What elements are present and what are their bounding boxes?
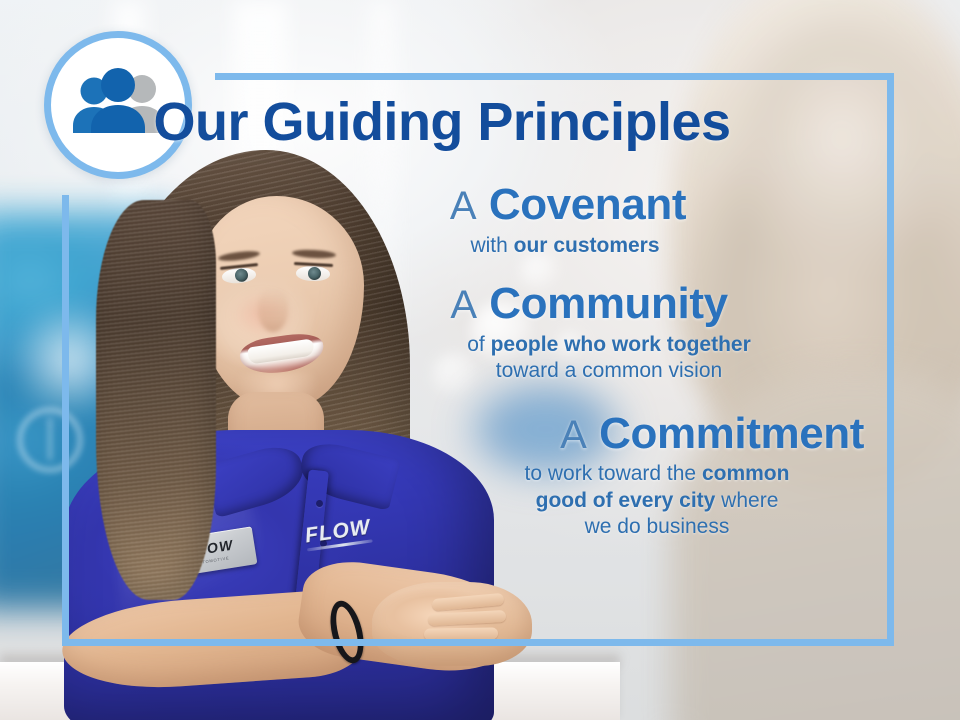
guiding-principles-graphic: FLOW AUTOMOTIVE FLOW <box>0 0 960 720</box>
principle-article: A <box>450 283 477 327</box>
principle-community: A Community of people who work togethert… <box>300 281 886 385</box>
principle-commitment: A Commitment to work toward the commongo… <box>300 411 886 541</box>
principle-description-line: good of every city where <box>450 488 864 514</box>
frame-top-border <box>215 73 894 80</box>
emphasis-text: our customers <box>514 234 660 257</box>
principle-keyword: Community <box>489 279 727 328</box>
principles-list: A Covenant with our customers A Communit… <box>300 182 886 551</box>
frame-bottom-border <box>62 639 894 646</box>
plain-text: with <box>470 234 513 257</box>
principle-keyword: Commitment <box>599 409 864 458</box>
principle-description: to work toward the commongood of every c… <box>300 461 864 540</box>
principle-description: with our customers <box>300 233 836 259</box>
principle-description-line: of people who work together <box>340 332 878 358</box>
plain-text: to work toward the <box>525 462 702 485</box>
plain-text: we do business <box>585 515 730 538</box>
principle-keyword: Covenant <box>489 180 686 229</box>
principle-description-line: to work toward the common <box>450 461 864 487</box>
emphasis-text: common <box>702 462 790 485</box>
principle-title: A Covenant <box>300 182 836 229</box>
plain-text: of <box>467 333 490 356</box>
plain-text: toward a common vision <box>496 359 722 382</box>
principle-covenant: A Covenant with our customers <box>300 182 886 259</box>
page-title: Our Guiding Principles <box>0 95 884 149</box>
principle-article: A <box>450 184 477 228</box>
principle-title: A Commitment <box>300 411 864 458</box>
emphasis-text: people who work together <box>491 333 751 356</box>
plain-text: where <box>715 489 778 512</box>
principle-description-line: we do business <box>450 514 864 540</box>
principle-description: of people who work togethertoward a comm… <box>300 332 878 385</box>
principle-title: A Community <box>300 281 878 328</box>
frame-right-border <box>887 73 894 646</box>
emphasis-text: good of every city <box>536 489 716 512</box>
principle-description-line: with our customers <box>300 233 830 259</box>
principle-article: A <box>560 413 587 457</box>
frame-left-border <box>62 195 69 646</box>
principle-description-line: toward a common vision <box>340 358 878 384</box>
